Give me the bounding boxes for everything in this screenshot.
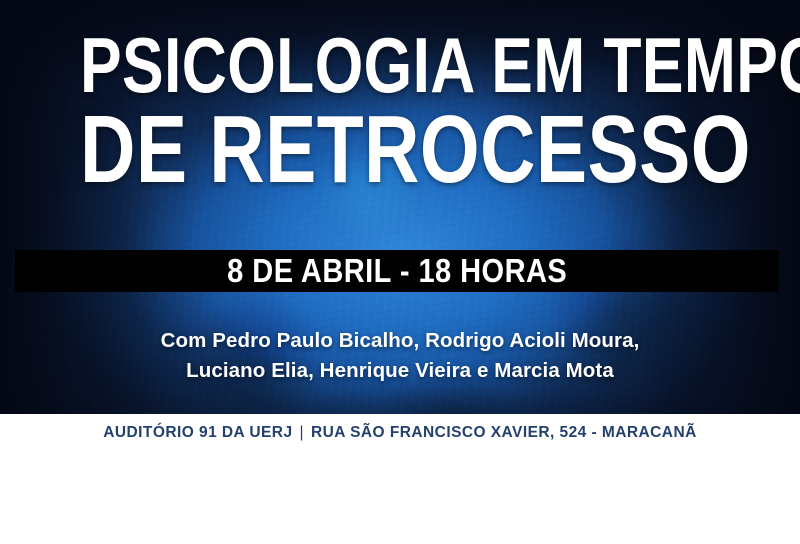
poster-title: PSICOLOGIA EM TEMPOS DE RETROCESSO [0, 30, 800, 194]
venue-auditorium: AUDITÓRIO 91 DA UERJ [103, 424, 292, 441]
speakers-line-1: Com Pedro Paulo Bicalho, Rodrigo Acioli … [0, 326, 800, 356]
date-banner: 8 DE ABRIL - 18 HORAS [15, 250, 779, 292]
speakers-list: Com Pedro Paulo Bicalho, Rodrigo Acioli … [0, 326, 800, 386]
event-poster: PSICOLOGIA EM TEMPOS DE RETROCESSO 8 DE … [0, 0, 800, 544]
venue-line: AUDITÓRIO 91 DA UERJ|RUA SÃO FRANCISCO X… [0, 424, 800, 442]
poster-footer: AUDITÓRIO 91 DA UERJ|RUA SÃO FRANCISCO X… [0, 414, 800, 544]
venue-address: RUA SÃO FRANCISCO XAVIER, 524 - MARACANÃ [311, 424, 697, 441]
title-line-1: PSICOLOGIA EM TEMPOS [80, 30, 720, 102]
venue-separator: | [293, 424, 311, 441]
title-line-2: DE RETROCESSO [80, 106, 720, 194]
speakers-line-2: Luciano Elia, Henrique Vieira e Marcia M… [0, 356, 800, 386]
date-banner-text: 8 DE ABRIL - 18 HORAS [227, 252, 567, 290]
